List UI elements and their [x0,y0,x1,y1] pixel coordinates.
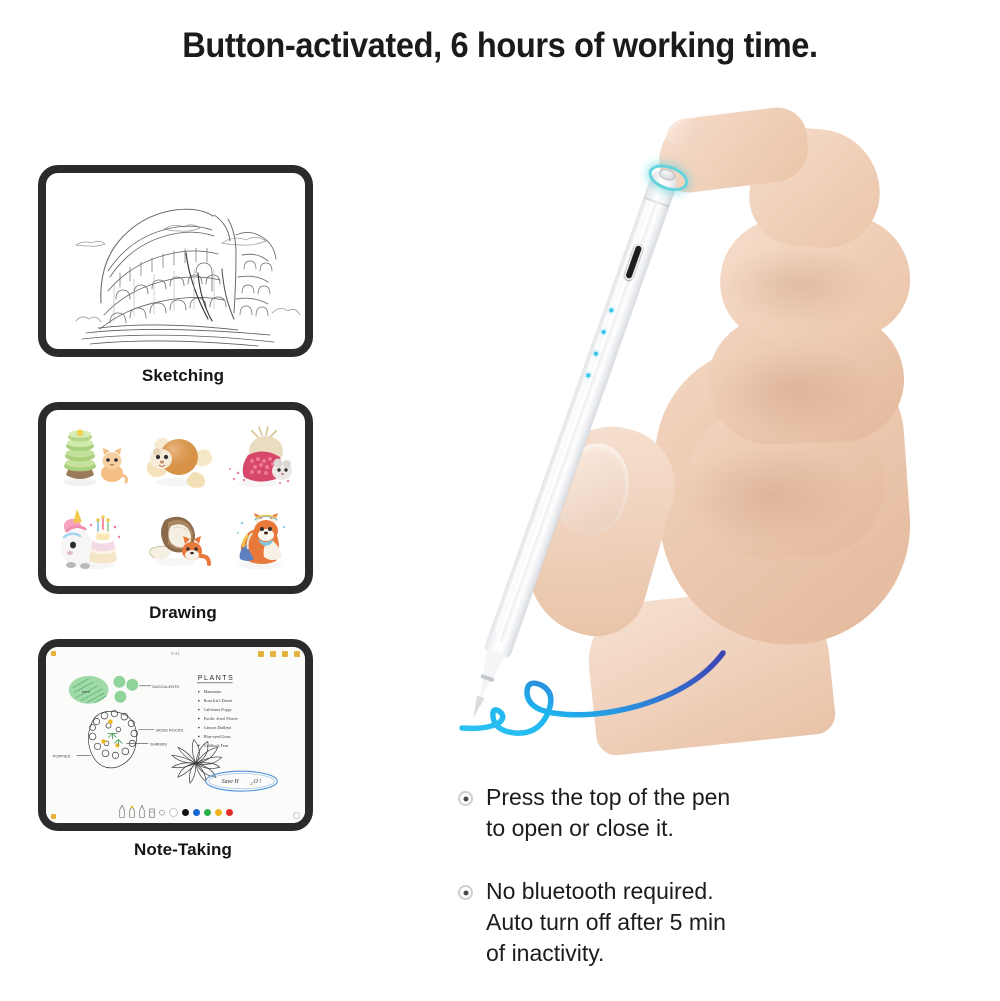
hand-shadow-3 [680,445,860,545]
bullet-2-line-1: No bluetooth required. [486,876,726,907]
tablet-device-notes: 9:41 [38,639,313,831]
svg-text:PLANTS: PLANTS [198,675,235,682]
lock-icon[interactable] [282,651,288,657]
bullet-2-line-3: of inactivity. [486,938,726,969]
svg-text:Pacific Jewel Flower: Pacific Jewel Flower [204,716,239,721]
color-swatch-yellow[interactable] [215,809,222,816]
caption-drawing: Drawing [38,603,328,623]
page-title: Button-activated, 6 hours of working tim… [35,26,965,66]
color-swatch-white[interactable] [169,808,178,817]
svg-text:Goldback Fern: Goldback Fern [204,743,228,748]
pen-tool-icon[interactable] [119,805,125,819]
handwritten-garden-diagram: lawn SUCCULENTS [46,660,305,801]
product-feature-page: Button-activated, 6 hours of working tim… [0,0,1000,1000]
pencil-tool-icon[interactable] [139,805,145,819]
use-case-note-taking: 9:41 [38,639,328,860]
svg-text:Save H: Save H [222,779,240,785]
artwork-mouse-with-pomegranate [217,418,299,498]
color-swatch-black[interactable] [182,809,189,816]
tablet-screen-drawing [46,410,305,586]
bullet-item-1: Press the top of the pen to open or clos… [458,782,858,844]
bullet-text-1: Press the top of the pen to open or clos… [486,782,730,844]
artwork-unicorn-with-cake [52,498,134,578]
bullet-1-line-1: Press the top of the pen [486,782,730,813]
share-icon[interactable] [258,651,264,657]
artwork-cat-with-green-macarons [52,418,134,498]
svg-text:California Poppy: California Poppy [204,707,233,712]
notes-add-icon[interactable] [51,814,56,819]
color-swatch-blue[interactable] [193,809,200,816]
tablet-screen-sketching [46,173,305,349]
svg-text:Manzanita: Manzanita [204,689,221,694]
bullet-marker-icon [458,791,473,806]
color-swatch-green[interactable] [204,809,211,816]
hand-shadow-2 [710,345,880,435]
marker-tool-icon[interactable] [129,805,135,819]
use-case-sketching: Sketching [38,165,328,386]
notes-toolbar-icons[interactable] [258,651,300,657]
bullet-item-2: No bluetooth required. Auto turn off aft… [458,876,858,969]
tablet-screen-notes: 9:41 [46,647,305,823]
bullet-2-line-2: Auto turn off after 5 min [486,907,726,938]
svg-text:O !: O ! [253,779,261,785]
bullet-text-2: No bluetooth required. Auto turn off aft… [486,876,726,969]
tablet-device-drawing [38,402,313,594]
svg-text:POPPIES: POPPIES [53,753,71,758]
use-case-tablet-column: Sketching [38,165,328,876]
svg-text:MOSS ROCKS: MOSS ROCKS [156,727,183,732]
eraser-tool-icon[interactable] [149,805,155,819]
notes-tool-palette[interactable] [46,801,305,823]
artwork-fox-in-costume [217,498,299,578]
feature-bullet-list: Press the top of the pen to open or clos… [458,782,858,1001]
bullet-marker-icon [458,885,473,900]
svg-text:SUCCULENTS: SUCCULENTS [152,684,179,689]
markup-icon[interactable] [270,651,276,657]
artwork-hamster-with-bread [134,418,216,498]
lasso-tool-icon[interactable] [159,805,165,819]
color-swatch-red[interactable] [226,809,233,816]
svg-text:Rosa Iris's Desert: Rosa Iris's Desert [204,698,233,703]
caption-sketching: Sketching [38,366,328,386]
hand-shadow-1 [720,245,880,325]
bullet-1-line-2: to open or close it. [486,813,730,844]
notes-canvas[interactable]: lawn SUCCULENTS [46,660,305,801]
tablet-device-sketching [38,165,313,357]
notes-status-bar: 9:41 [46,647,305,660]
artwork-fox-with-coconut [134,498,216,578]
notes-undo-icon[interactable] [293,812,300,819]
back-icon[interactable] [51,651,56,656]
status-time: 9:41 [171,651,180,656]
svg-text:lawn: lawn [82,689,91,694]
artwork-grid [46,410,305,586]
colosseum-sketch-image [46,173,305,349]
svg-text:SHRUBS: SHRUBS [150,741,167,746]
svg-text:Canyon Dudleya: Canyon Dudleya [204,725,232,730]
more-icon[interactable] [294,651,300,657]
use-case-drawing: Drawing [38,402,328,623]
blue-gradient-squiggle [440,600,780,760]
svg-text:2: 2 [250,781,252,786]
svg-text:Blue-eyed Grass: Blue-eyed Grass [204,734,231,739]
caption-note-taking: Note-Taking [38,840,328,860]
